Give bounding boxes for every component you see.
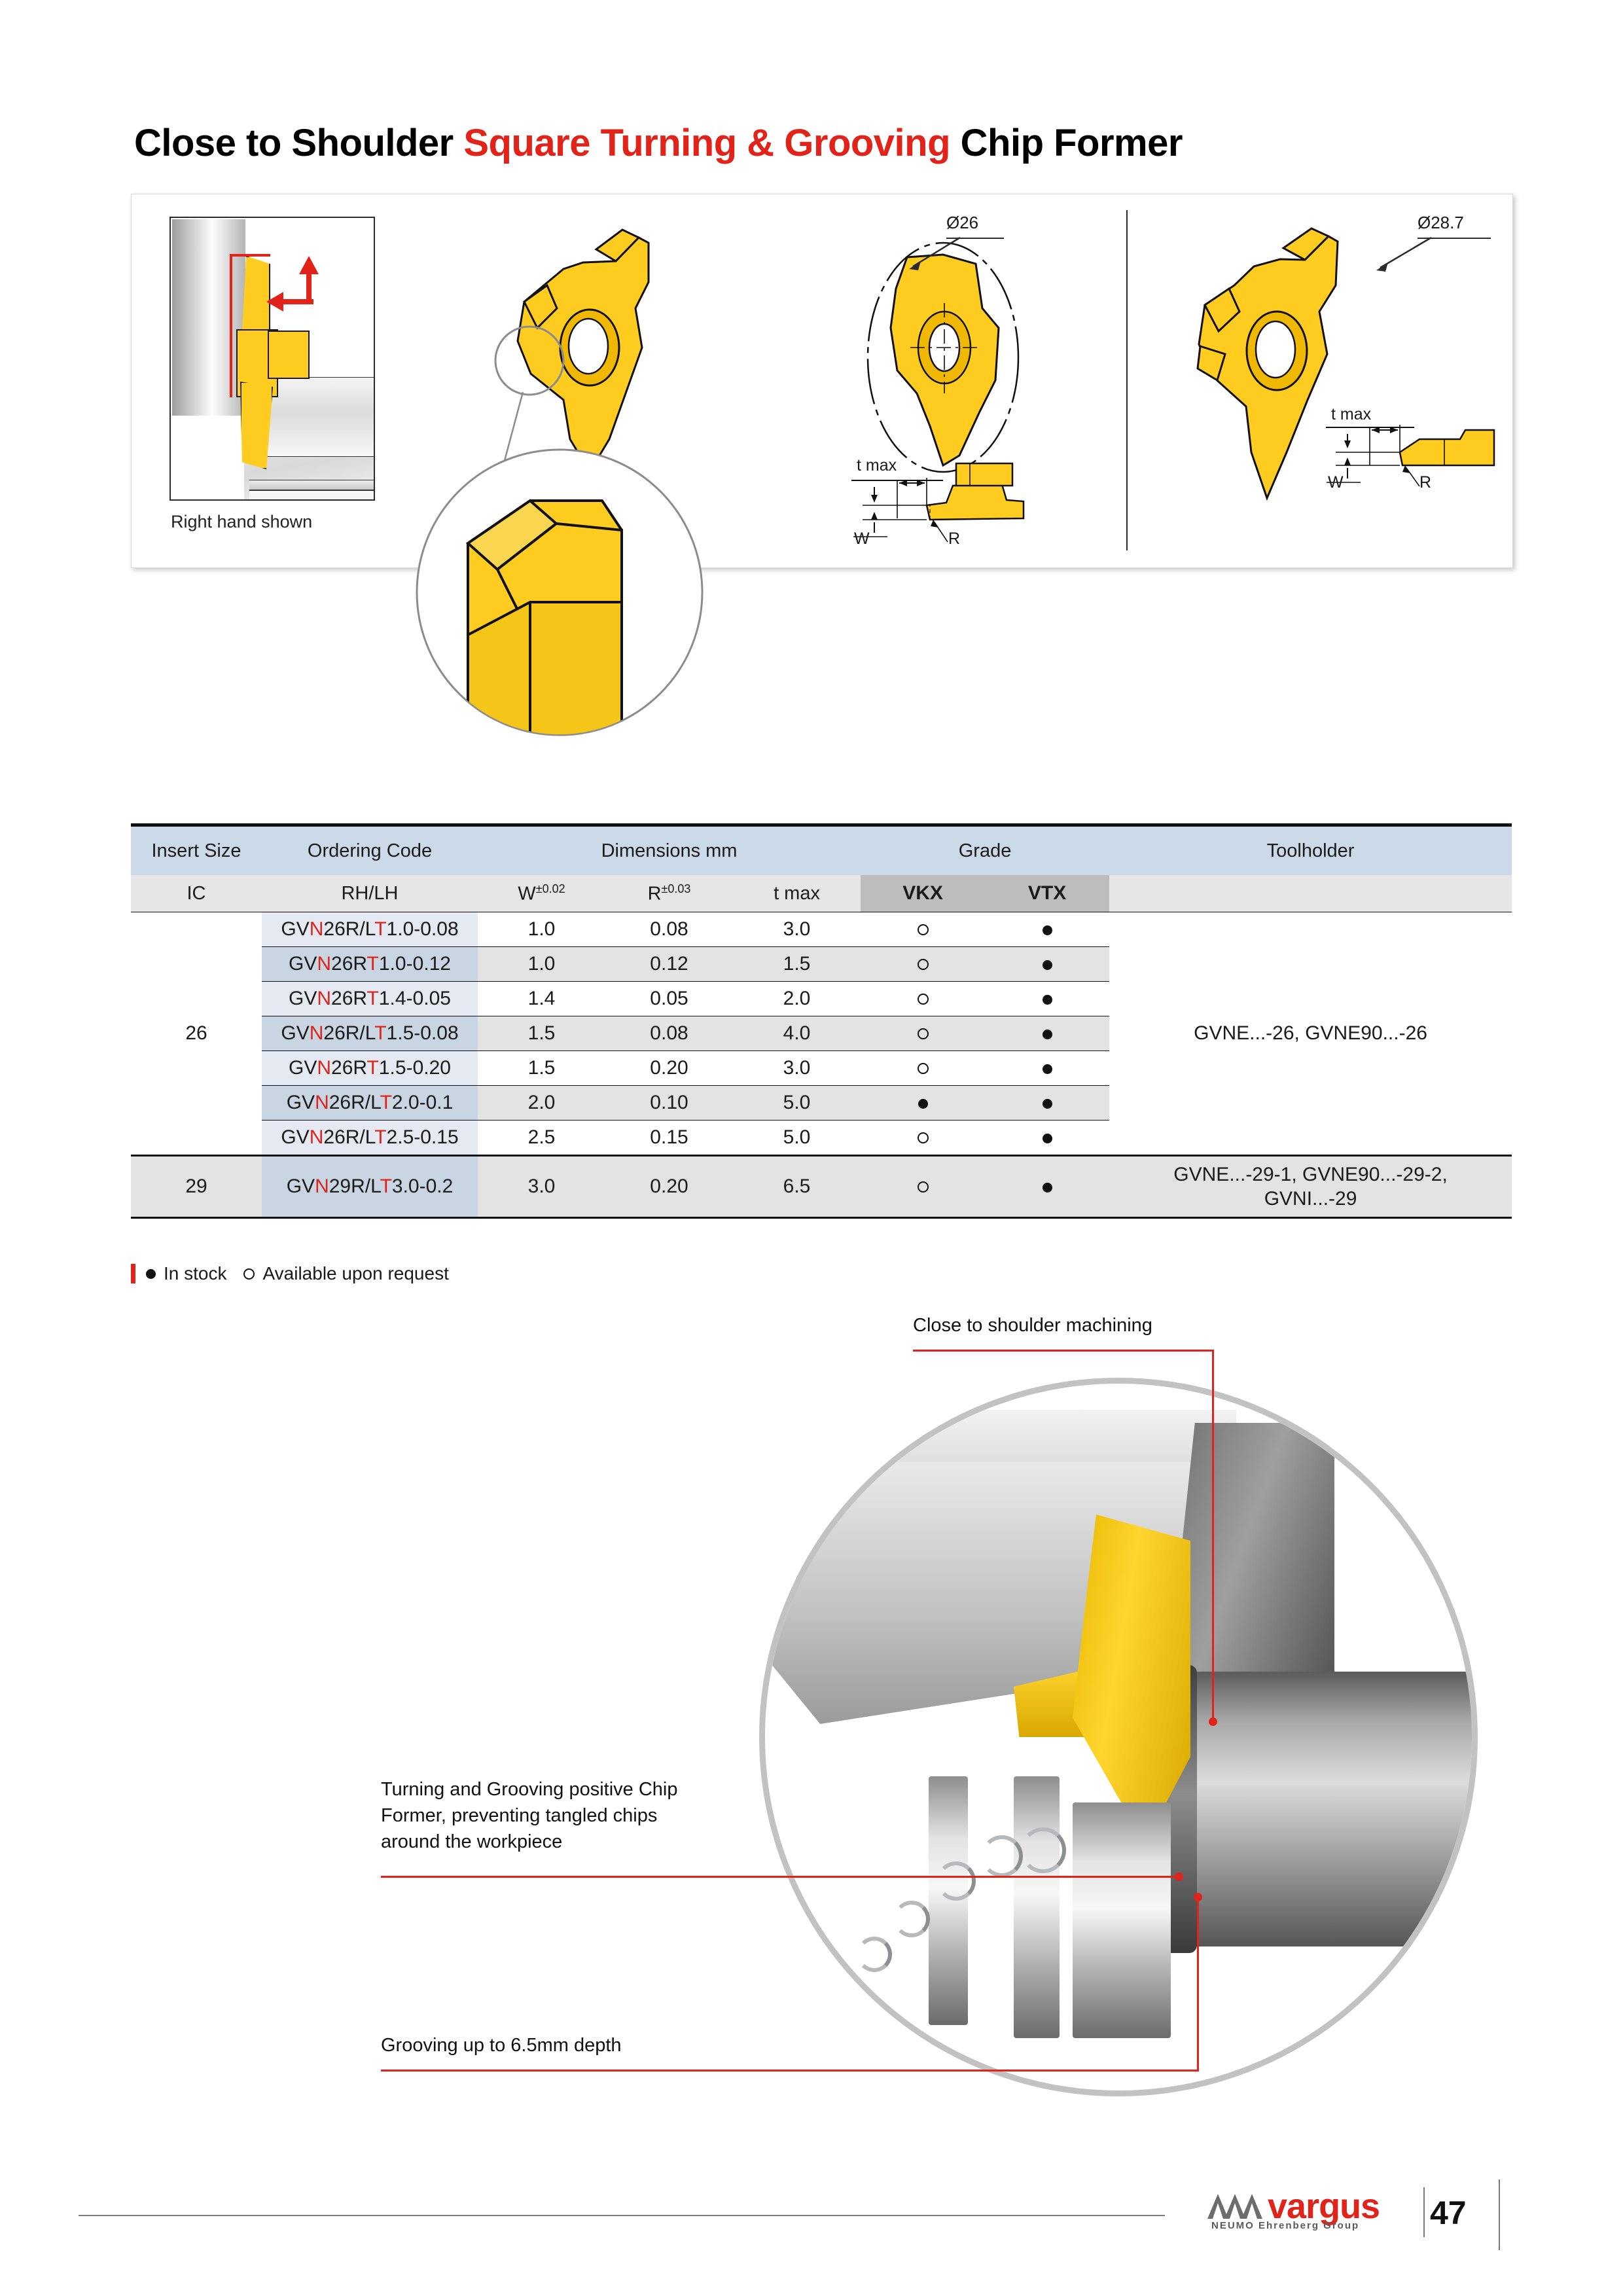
callout-3-dot	[1194, 1893, 1202, 1901]
cell-grade-vtx	[985, 1016, 1109, 1051]
cell-grade-vkx	[861, 1016, 985, 1051]
th-ordering-code: Ordering Code	[262, 825, 478, 876]
cell-r: 0.08	[605, 1016, 733, 1051]
arrow-up-icon	[299, 256, 319, 274]
cell-ordering-code: GVN29R/LT3.0-0.2	[262, 1156, 478, 1218]
legend-in-stock-label: In stock	[164, 1263, 226, 1284]
photo-chip-5	[857, 1937, 892, 1972]
cell-toolholder: GVNE...-26, GVNE90...-26	[1109, 912, 1512, 1156]
cell-t-max: 3.0	[733, 1051, 861, 1086]
cell-t-max: 1.5	[733, 947, 861, 982]
toolholder-base-lower	[249, 490, 374, 501]
th-grade: Grade	[861, 825, 1109, 876]
cell-grade-vtx	[985, 982, 1109, 1016]
cell-ordering-code: GVN26RT1.0-0.12	[262, 947, 478, 982]
insert-detail-magnifier	[406, 439, 713, 746]
r-label-right: R	[1419, 473, 1431, 492]
footer-rule	[79, 2215, 1165, 2216]
grade-filled-dot-icon	[1043, 1134, 1052, 1143]
photo-groove-disc-2	[1014, 1776, 1060, 2038]
cell-w: 1.4	[478, 982, 605, 1016]
cell-t-max: 5.0	[733, 1121, 861, 1156]
w-label-right: W	[1328, 473, 1344, 492]
cell-t-max: 6.5	[733, 1156, 861, 1218]
grade-filled-dot-icon	[1043, 1064, 1052, 1074]
cell-w: 1.0	[478, 912, 605, 947]
cell-grade-vkx	[861, 982, 985, 1016]
vargus-tagline: NEUMO Ehrenberg Group	[1211, 2220, 1359, 2231]
callout-2-dot	[1175, 1873, 1183, 1881]
cell-ordering-code: GVN26R/LT1.0-0.08	[262, 912, 478, 947]
cell-grade-vtx	[985, 1051, 1109, 1086]
cell-grade-vtx	[985, 912, 1109, 947]
grade-filled-dot-icon	[1043, 1183, 1052, 1193]
cell-ordering-code: GVN26R/LT1.5-0.08	[262, 1016, 478, 1051]
cell-insert-size: 29	[131, 1156, 262, 1218]
arrow-left-stem	[282, 299, 313, 304]
panel-divider	[1126, 210, 1128, 550]
cell-w: 1.5	[478, 1016, 605, 1051]
cell-r: 0.20	[605, 1156, 733, 1218]
technical-diagram-panel: Right hand shown Ø26	[131, 194, 1513, 568]
cell-w: 1.0	[478, 947, 605, 982]
cell-w: 2.0	[478, 1086, 605, 1121]
cell-ordering-code: GVN26RT1.5-0.20	[262, 1051, 478, 1086]
cell-grade-vtx	[985, 947, 1109, 982]
table-body: 26GVN26R/LT1.0-0.081.00.083.0GVNE...-26,…	[131, 912, 1512, 1218]
th-dimensions: Dimensions mm	[478, 825, 861, 876]
legend: In stock Available upon request	[131, 1263, 449, 1284]
application-photo	[759, 1378, 1478, 2096]
cell-r: 0.05	[605, 982, 733, 1016]
photo-content	[765, 1384, 1472, 2090]
callout-2-line-1: Turning and Grooving positive Chip	[381, 1776, 678, 1803]
grade-filled-dot-icon	[1043, 995, 1052, 1005]
title-part-1: Close to Shoulder	[134, 122, 463, 164]
cell-ordering-code: GVN26RT1.4-0.05	[262, 982, 478, 1016]
callout-3-line-h	[381, 2070, 1199, 2072]
th-vkx: VKX	[861, 875, 985, 912]
cell-grade-vkx	[861, 1051, 985, 1086]
photo-groove-disc-1	[929, 1776, 968, 2025]
th-insert-size: Insert Size	[131, 825, 262, 876]
cell-toolholder: GVNE...-29-1, GVNE90...-29-2,GVNI...-29	[1109, 1156, 1512, 1218]
legend-open-dot-icon	[243, 1268, 255, 1280]
arrow-left-icon	[266, 292, 283, 312]
cell-r: 0.08	[605, 912, 733, 947]
callout-2-line-3: around the workpiece	[381, 1829, 678, 1855]
cell-r: 0.10	[605, 1086, 733, 1121]
th-toolholder: Toolholder	[1109, 825, 1512, 876]
dia-26-label: Ø26	[946, 213, 978, 233]
grade-filled-dot-icon	[1043, 960, 1052, 970]
legend-filled-dot-icon	[146, 1269, 156, 1279]
cell-t-max: 3.0	[733, 912, 861, 947]
footer-logo-divider	[1423, 2187, 1425, 2237]
cell-grade-vtx	[985, 1121, 1109, 1156]
cell-grade-vkx	[861, 1086, 985, 1121]
title-part-3: Chip Former	[950, 122, 1183, 164]
tmax-label-left: t max	[857, 456, 897, 475]
cell-t-max: 4.0	[733, 1016, 861, 1051]
cell-r: 0.20	[605, 1051, 733, 1086]
callout-2-line-2: Former, preventing tangled chips	[381, 1803, 678, 1829]
dia-28-7-label: Ø28.7	[1418, 213, 1464, 233]
cell-t-max: 5.0	[733, 1086, 861, 1121]
grade-open-dot-icon	[918, 1063, 929, 1074]
table-header-row-2: IC RH/LH W±0.02 R±0.03 t max VKX VTX	[131, 875, 1512, 912]
w-label-left: W	[854, 529, 870, 548]
dia-28-7-leader-arrow	[1368, 235, 1434, 274]
grade-open-dot-icon	[918, 994, 929, 1005]
cell-grade-vkx	[861, 912, 985, 947]
callout-1-dot	[1209, 1717, 1217, 1726]
th-r: R±0.03	[605, 875, 733, 912]
right-hand-illustration	[169, 217, 375, 501]
vargus-logo-mark-icon	[1207, 2193, 1270, 2219]
right-hand-label: Right hand shown	[171, 512, 312, 532]
page-number: 47	[1430, 2194, 1467, 2232]
cell-w: 1.5	[478, 1051, 605, 1086]
cell-r: 0.15	[605, 1121, 733, 1156]
photo-chip-4	[893, 1901, 930, 1937]
grade-open-dot-icon	[918, 1132, 929, 1143]
table-row: 29GVN29R/LT3.0-0.23.00.206.5GVNE...-29-1…	[131, 1156, 1512, 1218]
page-title: Close to Shoulder Square Turning & Groov…	[134, 121, 1183, 165]
legend-red-bar	[131, 1264, 135, 1283]
photo-chip-2	[1020, 1827, 1066, 1873]
callout-1-line-v	[1212, 1350, 1214, 1721]
specification-table-wrapper: Insert Size Ordering Code Dimensions mm …	[131, 823, 1512, 1219]
grade-open-dot-icon	[918, 924, 929, 935]
callout-1-line-h	[913, 1350, 1214, 1352]
grade-filled-dot-icon	[1043, 1099, 1052, 1109]
tmax-label-right: t max	[1331, 405, 1371, 424]
insert-tab-right	[268, 331, 310, 379]
title-part-2-accent: Square Turning & Grooving	[463, 122, 950, 164]
cell-w: 2.5	[478, 1121, 605, 1156]
cell-ordering-code: GVN26R/LT2.0-0.1	[262, 1086, 478, 1121]
callout-grooving-depth: Grooving up to 6.5mm depth	[381, 2032, 622, 2058]
grade-open-dot-icon	[918, 959, 929, 970]
callout-2-line-h	[381, 1876, 1179, 1878]
cell-grade-vkx	[861, 1121, 985, 1156]
photo-groove-disc-3	[1073, 1803, 1171, 2038]
th-t-max: t max	[733, 875, 861, 912]
photo-workpiece	[1177, 1672, 1478, 1946]
red-toolpath	[230, 254, 270, 397]
specification-table: Insert Size Ordering Code Dimensions mm …	[131, 823, 1512, 1219]
grade-open-dot-icon	[918, 1181, 929, 1193]
callout-close-to-shoulder: Close to shoulder machining	[913, 1312, 1152, 1338]
table-header-row-1: Insert Size Ordering Code Dimensions mm …	[131, 825, 1512, 876]
table-row: 26GVN26R/LT1.0-0.081.00.083.0GVNE...-26,…	[131, 912, 1512, 947]
footer-rule-right	[1499, 2179, 1500, 2250]
dia-26-leader-arrow	[902, 235, 961, 274]
cell-insert-size: 26	[131, 912, 262, 1156]
th-ic: IC	[131, 875, 262, 912]
cell-grade-vkx	[861, 947, 985, 982]
grade-filled-dot-icon	[918, 1099, 928, 1109]
cell-r: 0.12	[605, 947, 733, 982]
photo-chip-6	[828, 1971, 862, 2005]
th-w: W±0.02	[478, 875, 605, 912]
grade-open-dot-icon	[918, 1028, 929, 1039]
callout-chip-former: Turning and Grooving positive Chip Forme…	[381, 1776, 678, 1855]
cell-w: 3.0	[478, 1156, 605, 1218]
photo-chip-3	[936, 1861, 976, 1901]
r-label-left: R	[948, 529, 960, 548]
catalog-page: Close to Shoulder Square Turning & Groov…	[0, 0, 1623, 2296]
cell-ordering-code: GVN26R/LT2.5-0.15	[262, 1121, 478, 1156]
cell-grade-vtx	[985, 1156, 1109, 1218]
grade-filled-dot-icon	[1043, 1030, 1052, 1039]
cell-t-max: 2.0	[733, 982, 861, 1016]
th-toolholder-sub	[1109, 875, 1512, 912]
grade-filled-dot-icon	[1043, 925, 1052, 935]
toolholder-base-upper	[249, 480, 374, 490]
legend-available-label: Available upon request	[262, 1263, 448, 1284]
cell-grade-vtx	[985, 1086, 1109, 1121]
callout-3-line-v	[1197, 1897, 1199, 2071]
th-rh-lh: RH/LH	[262, 875, 478, 912]
cell-grade-vkx	[861, 1156, 985, 1218]
photo-chip-1	[981, 1835, 1023, 1877]
th-vtx: VTX	[985, 875, 1109, 912]
